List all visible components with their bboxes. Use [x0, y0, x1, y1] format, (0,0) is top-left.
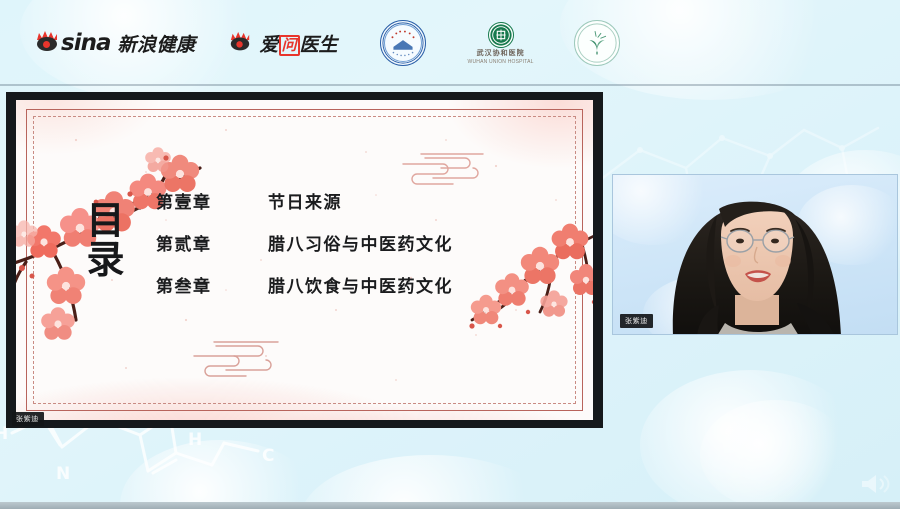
weibo-eye-icon	[229, 32, 253, 54]
toc-chapter-label: 第贰章	[156, 230, 268, 255]
sponsor-logo-bar: sina 新浪健康 爱问医生	[0, 0, 900, 86]
aiwen-label-boxed: 问	[279, 35, 300, 56]
backdrop-cloud	[120, 440, 320, 509]
chinese-cloud-motif-bottom-icon	[186, 338, 292, 378]
weibo-eye-icon	[34, 31, 60, 55]
speaker-volume-icon	[858, 471, 892, 497]
sprout-icon	[574, 20, 620, 66]
toc-row: 第壹章 节日来源	[156, 188, 453, 213]
toc-chapter-label: 第叁章	[156, 272, 268, 297]
backdrop-cloud	[640, 370, 860, 509]
slide-toc-list: 第壹章 节日来源 第贰章 腊八习俗与中医药文化 第叁章 腊八饮食与中医药文化	[156, 188, 453, 297]
toc-row: 第贰章 腊八习俗与中医药文化	[156, 230, 453, 255]
toc-chapter-text: 节日来源	[268, 188, 342, 213]
webinar-stage: H N H C sina	[0, 0, 900, 509]
backdrop-cloud	[700, 400, 850, 509]
chinese-cloud-motif-top-icon	[395, 148, 501, 188]
sina-health-logo: sina 新浪健康	[34, 19, 195, 67]
wuhan-union-hospital-english-caption: WUHAN UNION HOSPITAL	[468, 59, 534, 65]
watercolor-wash-bottom	[16, 318, 593, 420]
participant-video-tile[interactable]: 张紫迪	[612, 174, 898, 335]
aiwen-label-part1: 爱	[259, 35, 278, 56]
share-presenter-nameplate: 张紫迪	[12, 412, 44, 426]
screen-share-frame[interactable]: 目录 第壹章 节日来源 第贰章 腊八习俗与中医药文化 第叁章 腊八饮食与中医药文…	[6, 92, 603, 428]
aiwen-doctor-logo: 爱问医生	[227, 19, 337, 67]
university-seal-logo	[380, 19, 426, 67]
bottom-strip	[0, 502, 900, 509]
wuhan-union-hospital-logo: 武汉协和医院 WUHAN UNION HOSPITAL	[468, 19, 534, 67]
backdrop-cloud	[300, 455, 560, 509]
toc-chapter-text: 腊八习俗与中医药文化	[268, 230, 453, 255]
circular-seal-icon	[380, 20, 426, 66]
wuhan-union-hospital-chinese-caption: 武汉协和医院	[477, 48, 525, 58]
sina-wordmark: sina	[61, 30, 110, 56]
weibo-pupil-icon	[231, 37, 249, 50]
participant-webcam-image	[613, 175, 898, 335]
circular-seal-icon	[488, 22, 514, 48]
svg-text:H: H	[188, 430, 202, 450]
sprout-circle-logo	[574, 19, 620, 67]
svg-text:C: C	[262, 446, 274, 466]
weibo-pupil-icon	[37, 37, 57, 51]
sina-health-chinese-label: 新浪健康	[117, 30, 195, 57]
toc-chapter-text: 腊八饮食与中医药文化	[268, 272, 453, 297]
participant-nameplate: 张紫迪	[620, 314, 653, 328]
toc-chapter-label: 第壹章	[156, 188, 268, 213]
presentation-slide[interactable]: 目录 第壹章 节日来源 第贰章 腊八习俗与中医药文化 第叁章 腊八饮食与中医药文…	[16, 100, 593, 420]
toc-row: 第叁章 腊八饮食与中医药文化	[156, 272, 453, 297]
aiwen-label-part2: 医生	[300, 35, 338, 56]
aiwen-doctor-chinese-label: 爱问医生	[259, 30, 337, 57]
slide-title: 目录	[82, 200, 122, 286]
watercolor-wash-topleft	[16, 100, 235, 196]
svg-text:N: N	[56, 464, 70, 484]
